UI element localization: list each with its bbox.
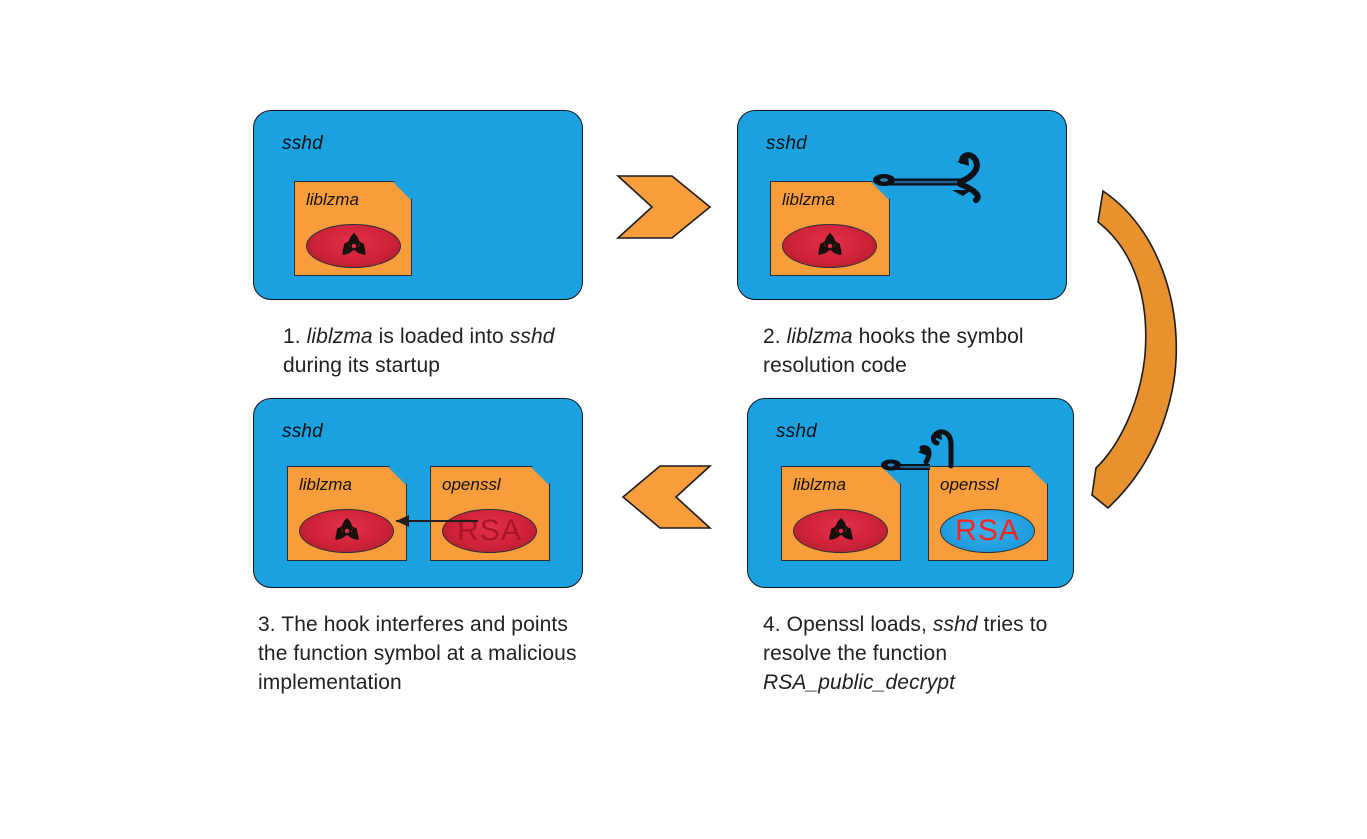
step-1-process-label: sshd	[282, 133, 323, 155]
step-2-caption-text: 2. liblzma hooks the symbol resolution c…	[763, 325, 1024, 377]
step-1-module-liblzma: liblzma	[294, 181, 412, 276]
step-1-process-box: sshd liblzma	[253, 110, 583, 300]
step-4-module-liblzma: liblzma	[781, 466, 901, 561]
flow-arrow-left-icon	[623, 466, 710, 528]
step-4-rsa-symbol-ellipse: RSA	[940, 509, 1035, 553]
biohazard-icon	[826, 516, 856, 546]
diagram-canvas: sshd liblzma	[0, 0, 1367, 839]
biohazard-icon	[332, 516, 362, 546]
step-3-process-box: sshd liblzma	[253, 398, 583, 588]
step-2-module-label: liblzma	[782, 190, 835, 210]
step-3-process-label: sshd	[282, 421, 323, 443]
step-4-malicious-payload-ellipse	[793, 509, 888, 553]
step-1-malicious-payload-ellipse	[306, 224, 401, 268]
step-3-rsa-symbol-ellipse: RSA	[442, 509, 537, 553]
step-3-caption-text: 3. The hook interferes and points the fu…	[258, 613, 577, 694]
page-fold-corner	[531, 467, 549, 485]
step-2-malicious-payload-ellipse	[782, 224, 877, 268]
step-2-process-box: sshd liblzma	[737, 110, 1067, 300]
step-4-module-openssl: openssl RSA	[928, 466, 1048, 561]
page-fold-corner	[871, 182, 889, 200]
step-2-process-label: sshd	[766, 133, 807, 155]
step-4-rsa-label: RSA	[955, 516, 1020, 546]
step-1-module-label: liblzma	[306, 190, 359, 210]
step-4-process-label: sshd	[776, 421, 817, 443]
flow-arrow-right-icon	[618, 176, 710, 238]
step-1-caption-text: 1. liblzma is loaded into sshd during it…	[283, 325, 555, 377]
step-3-module-liblzma: liblzma	[287, 466, 407, 561]
step-3-caption: 3. The hook interferes and points the fu…	[258, 610, 578, 697]
step-3-malicious-payload-ellipse	[299, 509, 394, 553]
step-4-caption-text: 4. Openssl loads, sshd tries to resolve …	[763, 613, 1047, 694]
page-fold-corner	[1029, 467, 1047, 485]
step-2-caption: 2. liblzma hooks the symbol resolution c…	[763, 322, 1063, 380]
step-4-module-liblzma-label: liblzma	[793, 475, 846, 495]
step-4-process-box: sshd liblzma	[747, 398, 1074, 588]
flow-arrow-curved-icon	[1092, 191, 1176, 508]
step-3-module-liblzma-label: liblzma	[299, 475, 352, 495]
step-1-caption: 1. liblzma is loaded into sshd during it…	[283, 322, 583, 380]
step-2-module-liblzma: liblzma	[770, 181, 890, 276]
biohazard-icon	[339, 231, 369, 261]
page-fold-corner	[393, 182, 411, 200]
step-4-caption: 4. Openssl loads, sshd tries to resolve …	[763, 610, 1063, 697]
page-fold-corner	[388, 467, 406, 485]
overlay-vectors	[0, 0, 1367, 839]
step-4-module-openssl-label: openssl	[940, 475, 999, 495]
step-3-module-openssl: openssl RSA	[430, 466, 550, 561]
step-3-module-openssl-label: openssl	[442, 475, 501, 495]
step-3-rsa-label: RSA	[457, 516, 522, 546]
biohazard-icon	[815, 231, 845, 261]
page-fold-corner	[882, 467, 900, 485]
